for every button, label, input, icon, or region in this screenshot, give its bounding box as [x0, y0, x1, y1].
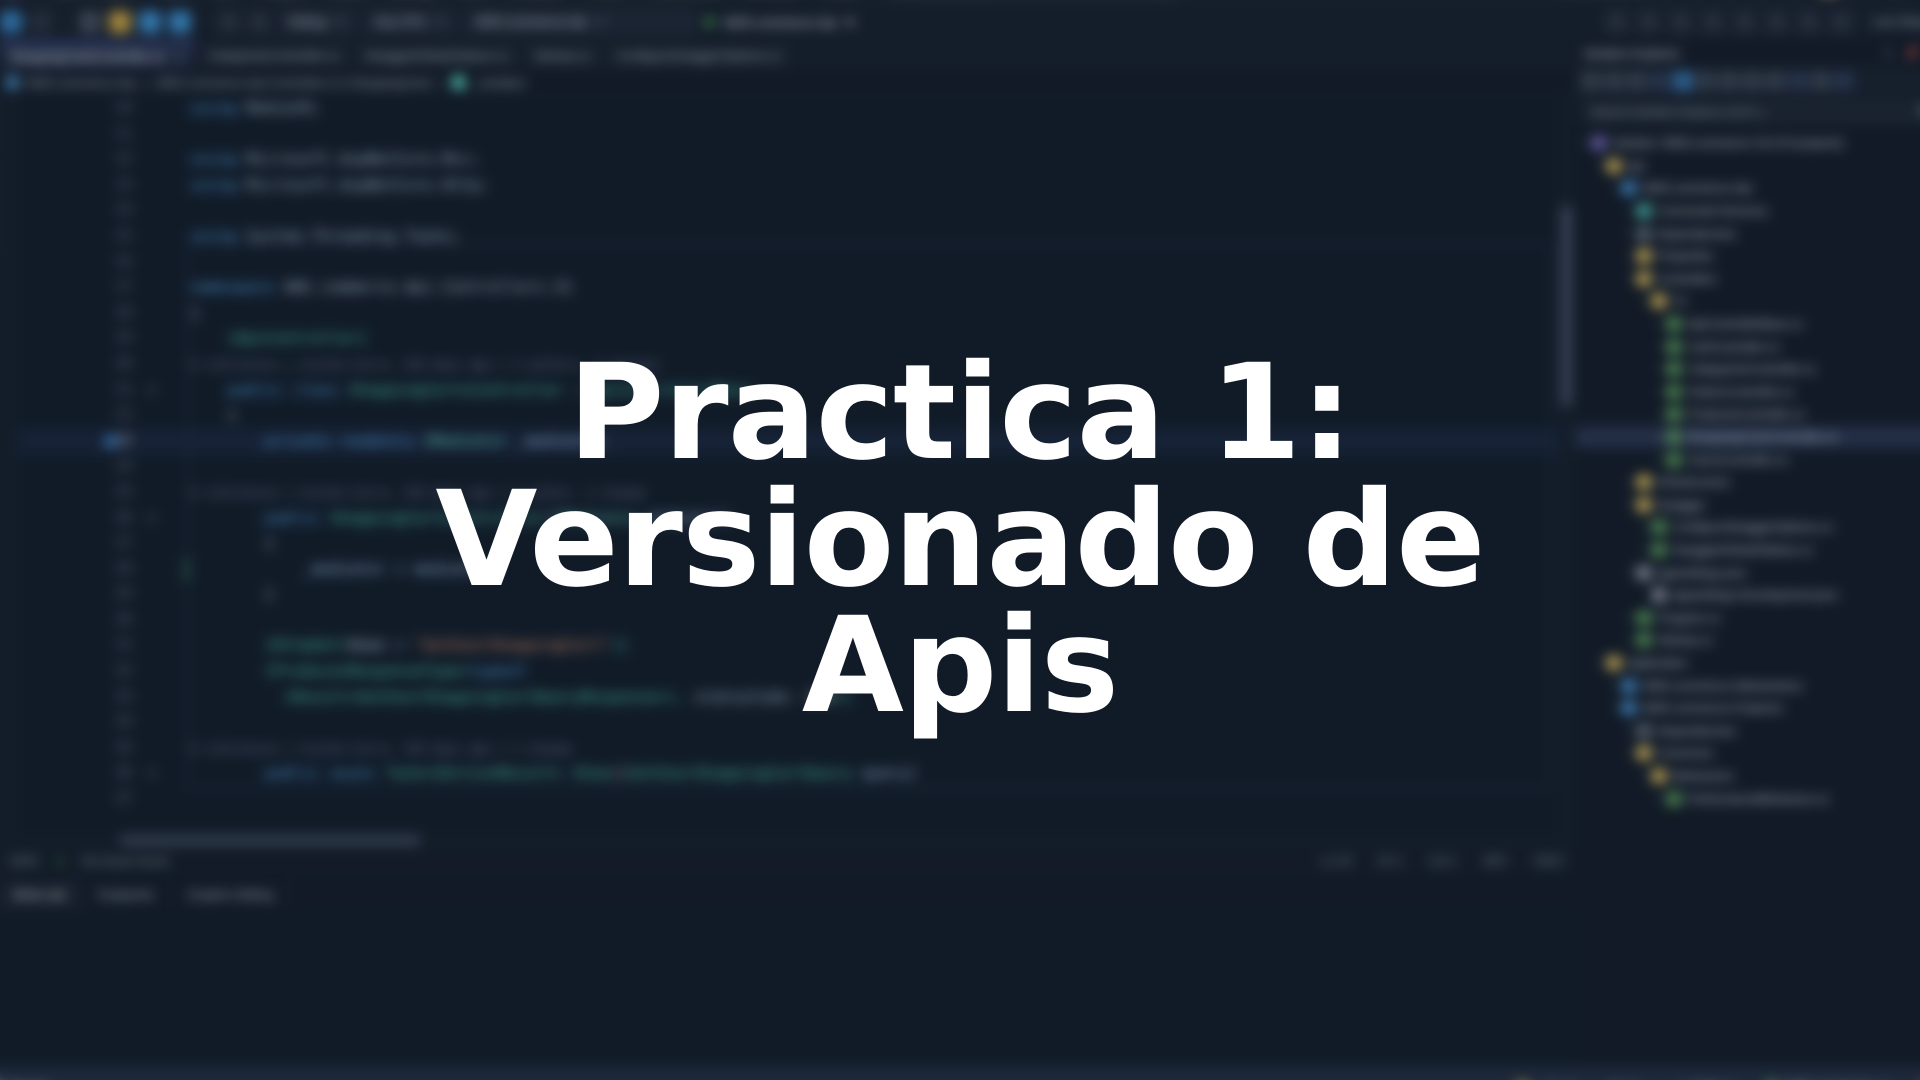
chevron-down-icon: ▼: [436, 17, 445, 27]
toolbar-separator: [204, 13, 205, 31]
dropdown-icon[interactable]: ▾: [1886, 47, 1892, 60]
code-line: 19 [ApiController]: [20, 326, 1557, 352]
tree-item-label: AWS.commerce.Features: [1642, 701, 1783, 715]
chevron-right-icon[interactable]: ▾: [1626, 748, 1637, 759]
chevron-right-icon[interactable]: ▸: [1626, 228, 1637, 239]
tab-label: SwaggerDefaultValues.cs: [365, 49, 509, 63]
no-issues-icon: ●: [57, 854, 64, 868]
view-code-icon[interactable]: [1742, 71, 1762, 91]
tree-item[interactable]: ▸ProductsController.cs: [1575, 403, 1920, 426]
editor-horizontal-scrollbar[interactable]: [20, 833, 1557, 848]
tree-item-label: PerformanceBehaviour.cs: [1687, 792, 1829, 806]
tree-item[interactable]: ▾Api: [1575, 155, 1920, 178]
home-icon[interactable]: [1627, 71, 1647, 91]
collapse-all-icon[interactable]: [1696, 71, 1716, 91]
cs-icon: [1637, 633, 1651, 647]
chevron-right-icon[interactable]: ▸: [1626, 206, 1637, 217]
fld-icon: [1607, 159, 1621, 173]
tree-item-label: Properties: [1657, 249, 1713, 263]
line-number: 37: [98, 787, 132, 813]
code-line: 22 {: [20, 403, 1557, 429]
tree-item[interactable]: ▸Connected Services: [1575, 200, 1920, 223]
close-icon[interactable]: ✕: [173, 51, 182, 64]
change-indicator: [185, 557, 188, 583]
tree-item[interactable]: ▾Controllers: [1575, 268, 1920, 291]
configuration-select[interactable]: Debug ▼: [279, 10, 355, 34]
tree-item-label: UsersController.cs: [1687, 453, 1788, 467]
line-number: 26: [98, 506, 132, 532]
tree-item[interactable]: ▸AWS.commerce.Abstractions: [1575, 674, 1920, 697]
navigate-forward-icon[interactable]: [248, 11, 270, 33]
breadcrumb-member[interactable]: _mediator: [472, 76, 527, 90]
indent-mode[interactable]: SPC: [1483, 854, 1508, 868]
tab-label: Startup.cs: [534, 49, 591, 63]
cs-icon: [1667, 430, 1681, 444]
conn-icon: [1637, 204, 1651, 218]
code-token: Task<IActionResult>: [386, 764, 573, 782]
line-number: 24: [98, 454, 132, 480]
chevron-right-icon[interactable]: ▸: [1656, 409, 1667, 420]
tree-item[interactable]: ▾Application: [1575, 652, 1920, 675]
cs-icon: [1667, 407, 1681, 421]
tree-item[interactable]: ▾Solution 'AWS.commerce' (8 of 9 project…: [1575, 132, 1920, 155]
code-token: 6 references | Custom Carro, 150 days ag…: [190, 486, 645, 500]
code-token: typeof: [470, 662, 526, 680]
member-icon: [452, 76, 465, 89]
line-number: 22: [98, 403, 132, 429]
code-token: [ProducesResponseType(: [190, 662, 470, 680]
tree-item-label: Swagger: [1657, 498, 1706, 512]
configuration-value: Debug: [289, 15, 326, 29]
save-all-icon[interactable]: [109, 11, 131, 33]
tab-error-list[interactable]: Error List: [0, 880, 82, 910]
tree-item[interactable]: appsettings.Development.json: [1575, 584, 1920, 607]
sln-icon: [1592, 136, 1606, 150]
hot-reload-icon[interactable]: [1606, 11, 1628, 33]
restart-icon[interactable]: [1766, 11, 1788, 33]
code-line: 206 references | Custom Carro, 150 days …: [20, 352, 1557, 378]
code-token: IMediator: [554, 509, 638, 527]
chevron-right-icon[interactable]: ▸: [1626, 477, 1637, 488]
line-number: 34: [98, 710, 132, 736]
tree-item[interactable]: ▸Program.cs: [1575, 606, 1920, 629]
line-number: 19: [98, 326, 132, 352]
tree-item[interactable]: ▸OrdersController.cs: [1575, 381, 1920, 404]
code-token: (Result<GetUserShoppingCartQueryResponse…: [190, 688, 694, 706]
pin-icon[interactable]: 📌: [1905, 47, 1919, 60]
solution-explorer-panel: Solution Explorer ▾ 📌 ✕: [1575, 40, 1920, 1066]
code-token: System.Threading.Tasks;: [246, 227, 461, 245]
tree-item-label: CartController.cs: [1687, 340, 1779, 354]
code-token: IMediator: [423, 432, 507, 450]
code-line: 24: [20, 454, 1557, 480]
code-token: namespace: [190, 278, 283, 296]
properties-icon[interactable]: [1765, 71, 1785, 91]
tree-item-label: Dependencies: [1657, 227, 1736, 241]
breadcrumb-separator: ▸: [143, 76, 149, 90]
tree-item-label: Startup.cs: [1657, 633, 1713, 647]
breakpoints-icon[interactable]: [1798, 11, 1820, 33]
line-endings[interactable]: CRLF: [1534, 854, 1565, 868]
pending-changes-icon[interactable]: [1650, 71, 1670, 91]
code-text[interactable]: 10using MediatR;1112using Microsoft.AspN…: [20, 96, 1557, 848]
tree-item-label: Dependencies: [1657, 724, 1736, 738]
dep-icon: [1637, 724, 1651, 738]
thumbnail-root: File Edit View Git Project Build Debug T…: [0, 0, 1920, 1080]
chevron-right-icon[interactable]: ▾: [1596, 160, 1607, 171]
code-token: ShoppingCartsController: [330, 509, 545, 527]
editor-status-right: Ln 23 Ch 1 Col 1 SPC CRLF: [1322, 854, 1565, 868]
tree-item-label: Controllers: [1657, 272, 1717, 286]
line-number: 33: [98, 685, 132, 711]
code-token: async: [330, 764, 386, 782]
chevron-right-icon[interactable]: ▾: [1626, 567, 1637, 578]
code-token: "GetUserShoppingCart": [414, 636, 610, 654]
tree-item-label: ProductsController.cs: [1687, 407, 1805, 421]
line-number: 20: [98, 352, 132, 378]
code-token: Microsoft.AspNetCore.Http;: [246, 176, 489, 194]
chevron-right-icon[interactable]: ▾: [1581, 138, 1592, 149]
tree-item-label: OrdersController.cs: [1687, 385, 1794, 399]
code-line: 37: [20, 787, 1557, 813]
code-line: 33 (Result<GetUserShoppingCartQueryRespo…: [20, 685, 1557, 711]
tab-shoppingcartscontroller[interactable]: ShoppingCartsController.cs ✕: [0, 42, 196, 70]
code-token: private readonly: [190, 432, 423, 450]
code-token: }: [190, 585, 274, 603]
code-token: [ApiController]: [190, 329, 367, 347]
run-label: AWS.commerce.Api: [723, 15, 837, 30]
line-number: 13: [98, 173, 132, 199]
chevron-right-icon[interactable]: ▾: [1596, 657, 1607, 668]
code-line: 31 [HttpGet(Name = "GetUserShoppingCart"…: [20, 633, 1557, 659]
fld-icon: [1652, 769, 1666, 783]
tab-configureswaggeroptions[interactable]: ConfigureSwaggerOptions.cs: [604, 42, 794, 70]
settings-icon[interactable]: [1834, 71, 1854, 91]
cs-icon: [1667, 792, 1681, 806]
tree-item-label: Behaviours: [1672, 769, 1734, 783]
line-number: 30: [98, 608, 132, 634]
run-button[interactable]: AWS.commerce.Api ▼: [706, 15, 857, 30]
code-token: :: [563, 381, 591, 399]
tree-item[interactable]: ▸Dependencies: [1575, 222, 1920, 245]
project-icon: [6, 76, 19, 89]
code-line: 26⊟ public ShoppingCartsController(IMedi…: [20, 506, 1557, 532]
line-number: 31: [98, 633, 132, 659]
chevron-down-icon: ▼: [844, 15, 857, 30]
editor-tab-strip: ShoppingCartsController.cs ✕ CategoriesC…: [0, 40, 1575, 70]
code-token: mediator;: [414, 560, 498, 578]
tree-item[interactable]: ▾AWS.commerce.Api: [1575, 177, 1920, 200]
code-token: [HttpGet(: [190, 636, 349, 654]
dep-icon: [1637, 227, 1651, 241]
forward-icon[interactable]: [1604, 71, 1624, 91]
chevron-right-icon[interactable]: ▸: [1626, 612, 1637, 623]
editor-indicator-margin: [0, 96, 20, 848]
toolbar-right-group: Live Share: [1602, 11, 1920, 33]
code-editor[interactable]: 10using MediatR;1112using Microsoft.AspN…: [0, 96, 1575, 848]
code-line: 36⊟ public async Task<IActionResult> Sho…: [20, 761, 1557, 787]
tree-item[interactable]: ▸Dependencies: [1575, 719, 1920, 742]
collapse-icon[interactable]: ⊟: [148, 506, 155, 532]
breadcrumb-project[interactable]: AWS.commerce.Api: [26, 76, 136, 90]
live-share-button[interactable]: Live Share: [1872, 15, 1920, 29]
code-token: mediator): [638, 509, 731, 527]
step-out-icon[interactable]: [1702, 11, 1724, 33]
code-token: query: [853, 764, 909, 782]
code-line: 14: [20, 198, 1557, 224]
tree-item[interactable]: ▾appsettings.json: [1575, 561, 1920, 584]
code-token: {: [190, 304, 199, 322]
code-line: 16: [20, 250, 1557, 276]
code-token: Microsoft.AspNetCore.Mvc;: [246, 150, 479, 168]
chevron-down-icon: ▼: [596, 17, 605, 27]
code-token: _mediator;: [507, 432, 610, 450]
chevron-right-icon[interactable]: ▸: [1656, 432, 1667, 443]
prj-icon: [1622, 679, 1636, 693]
status-bar: Ready 🔔 ↑ 3 ↓ 1 ⬆ 1 ↑ ⑂ main ▾ AWS.com: [0, 1066, 1920, 1080]
chevron-right-icon[interactable]: ▸: [1611, 680, 1622, 691]
new-project-icon[interactable]: [0, 11, 22, 33]
tree-item-label: Program.cs: [1657, 611, 1720, 625]
refresh-icon[interactable]: [1673, 71, 1693, 91]
caret-char: Ch 1: [1378, 854, 1403, 868]
chevron-right-icon[interactable]: ▾: [1641, 770, 1652, 781]
play-icon: [706, 16, 716, 28]
tree-item-label: ConfigureSwaggerOptions.cs: [1672, 520, 1833, 534]
chevron-right-icon[interactable]: ▸: [1626, 635, 1637, 646]
tree-item-label: appsettings.Development.json: [1672, 588, 1838, 602]
code-token: 6 references | Custom Carro, 150 days ag…: [190, 742, 572, 756]
line-number: 28: [98, 557, 132, 583]
tab-label: ShoppingCartsController.cs: [10, 50, 164, 64]
caret-line: Ln 23: [1322, 854, 1352, 868]
tab-swaggerdefaultvalues[interactable]: SwaggerDefaultValues.cs: [353, 42, 522, 70]
breadcrumb: AWS.commerce.Api ▸ AWS.commerce.Api.Cont…: [0, 70, 1575, 96]
tree-item[interactable]: ▸ApiControllerBase.cs: [1575, 313, 1920, 336]
bottom-tool-tabs: Error List Endpoints Graphic Editing: [0, 880, 1575, 910]
tab-label: ConfigureSwaggerOptions.cs: [616, 49, 781, 63]
line-number: 27: [98, 531, 132, 557]
tree-item[interactable]: ▸CategoriesController.cs: [1575, 358, 1920, 381]
collapse-icon[interactable]: ⊟: [148, 378, 155, 404]
solution-tree[interactable]: ▾Solution 'AWS.commerce' (8 of 9 project…: [1575, 132, 1920, 1066]
scrollbar-thumb[interactable]: [1561, 206, 1572, 406]
code-line: 21⊟ public class ShoppingCartsController…: [20, 378, 1557, 404]
tree-item[interactable]: ▸ShoppingCartsController.cs: [1575, 426, 1920, 449]
diagnostics-icon[interactable]: [1830, 11, 1852, 33]
cs-icon: [1667, 362, 1681, 376]
chevron-right-icon[interactable]: ▸: [1641, 522, 1652, 533]
chevron-right-icon[interactable]: ▾: [1626, 273, 1637, 284]
line-number: 36: [98, 761, 132, 787]
code-token: using: [190, 227, 246, 245]
fld-icon: [1607, 656, 1621, 670]
code-token: using: [190, 176, 246, 194]
fld-icon: [1637, 249, 1651, 263]
line-number: 29: [98, 582, 132, 608]
caret-col: Col 1: [1429, 854, 1457, 868]
cs-icon: [1637, 611, 1651, 625]
line-number: 32: [98, 659, 132, 685]
code-token: GetUserShoppingCartQuery: [629, 764, 853, 782]
tab-endpoints[interactable]: Endpoints: [82, 880, 171, 910]
filter-icon[interactable]: [1811, 71, 1831, 91]
breakpoint-icon[interactable]: [104, 435, 117, 448]
tree-item-label: V1: [1672, 294, 1687, 308]
code-token: using: [190, 99, 246, 117]
cs-icon: [1667, 385, 1681, 399]
code-token: public: [190, 381, 293, 399]
code-line: 28 _mediator = mediator;: [20, 557, 1557, 583]
undo-icon[interactable]: [139, 11, 161, 33]
code-token: ApiControllerBase: [591, 381, 750, 399]
chevron-right-icon[interactable]: ▸: [1626, 251, 1637, 262]
cs-icon: [1652, 543, 1666, 557]
code-line: 32 [ProducesResponseType(typeof: [20, 659, 1557, 685]
solution-explorer-toolbar: [1575, 66, 1920, 96]
platform-select[interactable]: Any CPU ▼: [365, 10, 455, 34]
code-token: )]: [834, 688, 853, 706]
platform-value: Any CPU: [375, 15, 426, 29]
code-token: {: [190, 406, 237, 424]
breadcrumb-namespace[interactable]: AWS.commerce.Api.Controllers.V1.Shopping…: [156, 76, 432, 90]
tab-startup[interactable]: Startup.cs: [522, 42, 604, 70]
code-line: 17namespace AWS.commerce.Api.Controllers…: [20, 275, 1557, 301]
sync-icon[interactable]: [1788, 71, 1808, 91]
code-token: 200: [806, 688, 834, 706]
show-all-files-icon[interactable]: [1719, 71, 1739, 91]
code-line: 30: [20, 608, 1557, 634]
code-token: ([: [610, 764, 629, 782]
cs-icon: [1667, 317, 1681, 331]
chevron-right-icon[interactable]: ▸: [1656, 386, 1667, 397]
tree-item-label: Application: [1627, 656, 1688, 670]
code-token: class: [293, 381, 349, 399]
editor-vertical-scrollbar[interactable]: [1558, 96, 1575, 848]
fld-icon: [1637, 475, 1651, 489]
tree-item-label: CategoriesController.cs: [1687, 362, 1816, 376]
code-line: 23 private readonly IMediator _mediator;: [20, 429, 1557, 455]
fld-icon: [1637, 272, 1651, 286]
startup-project-select[interactable]: AWS.commerce.Api ▼: [465, 10, 695, 34]
search-placeholder: Search Solution Explorer (Ctrl+;): [1591, 105, 1764, 119]
line-number: 15: [98, 224, 132, 250]
solution-explorer-search-input[interactable]: Search Solution Explorer (Ctrl+;) 🔍: [1583, 101, 1920, 123]
line-number: 21: [98, 378, 132, 404]
tree-item[interactable]: ▾Commons: [1575, 742, 1920, 765]
code-token: Name: [349, 636, 386, 654]
tree-item-label: AWS.commerce.Api: [1642, 181, 1752, 195]
step-into-icon[interactable]: [1638, 11, 1660, 33]
tree-item-label: appsettings.json: [1657, 566, 1747, 580]
open-file-icon[interactable]: [30, 11, 52, 33]
tree-item[interactable]: ▸ConfigureSwaggerOptions.cs: [1575, 516, 1920, 539]
tree-item-label: Solution 'AWS.commerce' (8 of 9 projects…: [1612, 136, 1844, 150]
tree-item[interactable]: ▸UsersController.cs: [1575, 448, 1920, 471]
code-line: 18{: [20, 301, 1557, 327]
tab-graphic-editing[interactable]: Graphic Editing: [171, 880, 290, 910]
tree-item[interactable]: ▾Behaviours: [1575, 765, 1920, 788]
line-number: 25: [98, 480, 132, 506]
tree-item[interactable]: ▸Infrastructure: [1575, 471, 1920, 494]
code-line: 256 references | Custom Carro, 150 days …: [20, 480, 1557, 506]
scrollbar-thumb[interactable]: [120, 836, 420, 845]
code-token: using: [190, 150, 246, 168]
zoom-level[interactable]: 100%: [8, 854, 39, 868]
chevron-right-icon[interactable]: ▸: [1626, 725, 1637, 736]
code-token: {: [190, 534, 274, 552]
line-number: 17: [98, 275, 132, 301]
line-number: 14: [98, 198, 132, 224]
issues-label[interactable]: No issues found: [82, 854, 168, 868]
chevron-right-icon[interactable]: ▾: [1611, 703, 1622, 714]
collapse-icon[interactable]: ⊟: [148, 761, 155, 787]
cs-icon: [1667, 453, 1681, 467]
chevron-right-icon[interactable]: ▸: [1656, 341, 1667, 352]
chevron-right-icon[interactable]: ▸: [1656, 793, 1667, 804]
tree-item-label: AWS.commerce.Abstractions: [1642, 679, 1803, 693]
chevron-right-icon[interactable]: ▾: [1641, 296, 1652, 307]
back-icon[interactable]: [1581, 71, 1601, 91]
json-icon: [1652, 588, 1666, 602]
code-token: ShoppingCartsController: [349, 381, 564, 399]
code-line: 10using MediatR;: [20, 96, 1557, 122]
fld-icon: [1637, 746, 1651, 760]
chevron-right-icon[interactable]: ▸: [1656, 454, 1667, 465]
navigate-back-icon[interactable]: [218, 11, 240, 33]
tree-item[interactable]: ▸CartController.cs: [1575, 335, 1920, 358]
tree-item-label: Api: [1627, 159, 1645, 173]
chevron-right-icon[interactable]: ▸: [1656, 319, 1667, 330]
breadcrumb-separator: ▸: [438, 76, 444, 90]
code-line: 12using Microsoft.AspNetCore.Mvc;: [20, 147, 1557, 173]
tab-categoriescontroller[interactable]: CategoriesController.cs: [196, 42, 353, 70]
code-token: MediatR;: [246, 99, 321, 117]
standard-toolbar: Debug ▼ Any CPU ▼ AWS.commerce.Api ▼ AWS…: [0, 4, 1920, 40]
tree-item[interactable]: ▾AWS.commerce.Features: [1575, 697, 1920, 720]
cs-icon: [1652, 520, 1666, 534]
code-token: public: [190, 764, 330, 782]
stop-icon[interactable]: [1734, 11, 1756, 33]
save-icon[interactable]: [79, 11, 101, 33]
chevron-right-icon[interactable]: ▸: [1641, 544, 1652, 555]
code-token: statusCode:: [694, 688, 806, 706]
code-token: public: [190, 509, 330, 527]
chevron-right-icon[interactable]: ▾: [1611, 183, 1622, 194]
code-token: ): [909, 764, 918, 782]
tree-item[interactable]: ▸Properties: [1575, 245, 1920, 268]
tree-item[interactable]: ▸Startup.cs: [1575, 629, 1920, 652]
tree-item[interactable]: ▸PerformanceBehaviour.cs: [1575, 787, 1920, 810]
code-line: 29 }: [20, 582, 1557, 608]
redo-icon[interactable]: [169, 11, 191, 33]
panel-actions: ▾ 📌 ✕: [1886, 47, 1920, 60]
step-over-icon[interactable]: [1670, 11, 1692, 33]
chevron-down-icon: ▼: [336, 17, 345, 27]
cs-icon: [1667, 340, 1681, 354]
tree-item-label: Connected Services: [1657, 204, 1768, 218]
json-icon: [1637, 566, 1651, 580]
chevron-right-icon[interactable]: ▾: [1626, 499, 1637, 510]
chevron-right-icon[interactable]: ▸: [1656, 364, 1667, 375]
tree-item[interactable]: ▾V1: [1575, 290, 1920, 313]
tree-item[interactable]: ▸SwaggerDefaultValues.cs: [1575, 539, 1920, 562]
tree-item[interactable]: ▾Swagger: [1575, 494, 1920, 517]
code-line: 34: [20, 710, 1557, 736]
solution-explorer-title: Solution Explorer: [1583, 46, 1680, 61]
toolbar-separator: [65, 13, 66, 31]
prj-icon: [1622, 701, 1636, 715]
